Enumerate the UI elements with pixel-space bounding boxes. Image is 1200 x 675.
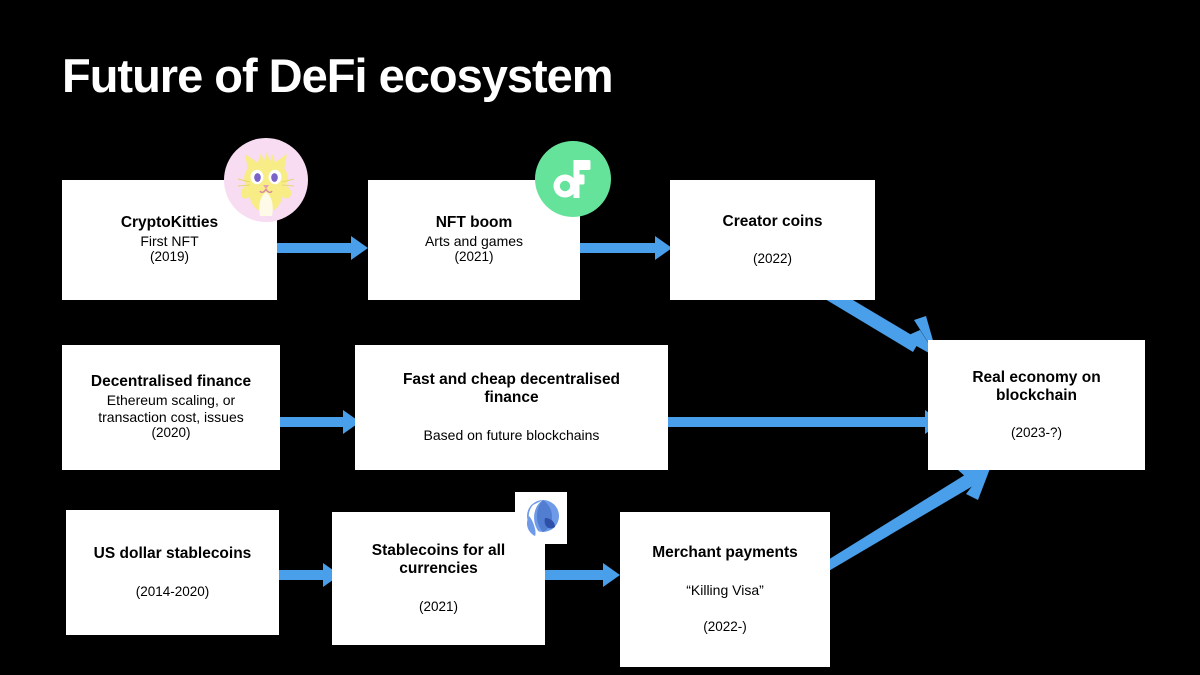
flow-blockchain-glyph [550, 156, 596, 202]
cryptokitties-cat-icon [224, 138, 308, 222]
node-decentralised-finance-year: (2020) [151, 425, 190, 441]
arrow-head [351, 236, 368, 260]
node-cryptokitties-year: (2019) [150, 249, 189, 265]
flow-blockchain-icon [535, 141, 611, 217]
arrow-shaft [278, 417, 344, 427]
node-real-economy-title: Real economy on blockchain [947, 369, 1127, 406]
arrow-shaft [272, 243, 352, 253]
node-cryptokitties-title: CryptoKitties [121, 214, 218, 232]
node-creator-coins-year: (2022) [753, 251, 792, 267]
diem-globe-glyph [519, 496, 563, 540]
node-us-dollar-stablecoins[interactable]: US dollar stablecoins (2014-2020) [66, 510, 279, 635]
diem-logo-badge [515, 492, 567, 544]
node-decentralised-finance-subtitle-2: transaction cost, issues [98, 409, 244, 426]
cryptokitties-logo-badge [224, 138, 308, 222]
page-title: Future of DeFi ecosystem [62, 50, 613, 102]
node-stablecoins-all[interactable]: Stablecoins for all currencies (2021) [332, 512, 545, 645]
slide-canvas: Future of DeFi ecosystem CryptoKitties F… [0, 0, 1200, 675]
node-fast-cheap-defi-subtitle: Based on future blockchains [424, 427, 600, 444]
arrow-fast-cheap-defi-to-real-economy [652, 410, 942, 434]
node-creator-coins[interactable]: Creator coins (2022) [670, 180, 875, 300]
flow-logo-badge [535, 141, 611, 217]
node-real-economy[interactable]: Real economy on blockchain (2023-?) [928, 340, 1145, 470]
arrow-shaft [652, 417, 926, 427]
arrow-shaft [576, 243, 656, 253]
cryptokitties-cat-glyph [224, 138, 308, 222]
node-decentralised-finance-subtitle-1: Ethereum scaling, or [107, 392, 235, 409]
node-merchant-payments-subtitle: “Killing Visa” [686, 582, 764, 599]
node-real-economy-year: (2023-?) [1011, 425, 1062, 441]
node-cryptokitties-subtitle: First NFT [140, 233, 198, 250]
node-decentralised-finance[interactable]: Decentralised finance Ethereum scaling, … [62, 345, 280, 470]
node-nft-boom-title: NFT boom [436, 214, 513, 232]
arrow-defi-to-fast-cheap-defi [278, 410, 360, 434]
node-nft-boom-year: (2021) [454, 249, 493, 265]
node-merchant-payments[interactable]: Merchant payments “Killing Visa” (2022-) [620, 512, 830, 667]
node-nft-boom-subtitle: Arts and games [425, 233, 523, 250]
arrow-cryptokitties-to-nft-boom [272, 236, 368, 260]
node-creator-coins-title: Creator coins [723, 213, 823, 231]
diem-globe-icon [515, 492, 567, 544]
node-stablecoins-all-year: (2021) [419, 599, 458, 615]
arrow-head [603, 563, 620, 587]
arrow-nft-boom-to-creator-coins [576, 236, 672, 260]
node-decentralised-finance-title: Decentralised finance [91, 373, 251, 391]
node-fast-cheap-defi-title: Fast and cheap decentralised finance [384, 371, 639, 408]
node-us-dollar-stablecoins-title: US dollar stablecoins [94, 545, 252, 563]
node-stablecoins-all-title: Stablecoins for all currencies [356, 542, 521, 579]
node-fast-cheap-defi[interactable]: Fast and cheap decentralised finance Bas… [355, 345, 668, 470]
node-us-dollar-stablecoins-year: (2014-2020) [136, 584, 210, 600]
node-merchant-payments-title: Merchant payments [652, 544, 798, 562]
node-merchant-payments-year: (2022-) [703, 619, 747, 635]
